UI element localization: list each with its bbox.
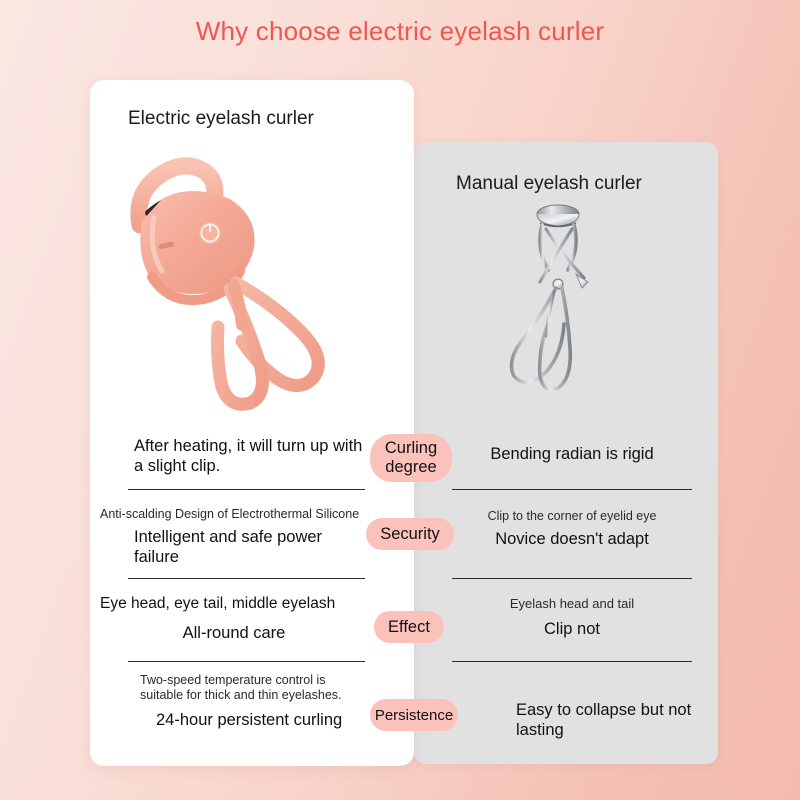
cell-electric-sub: Anti-scalding Design of Electrothermal S… [100, 507, 368, 522]
row-divider [128, 661, 365, 662]
cell-electric-main: Intelligent and safe power failure [100, 527, 368, 567]
criterion-pill-effect: Effect [374, 611, 444, 643]
table-row: After heating, it will turn up with a sl… [100, 436, 368, 476]
table-row: Anti-scalding Design of Electrothermal S… [100, 507, 368, 567]
row-divider [452, 489, 692, 490]
criterion-pill-curling-degree: Curling degree [370, 434, 452, 482]
row-divider [452, 578, 692, 579]
cell-manual-main: Novice doesn't adapt [444, 529, 700, 549]
cell-manual-main: Clip not [444, 619, 700, 639]
criterion-pill-persistence: Persistence [370, 699, 458, 731]
cell-manual-sub: Clip to the corner of eyelid eye [444, 509, 700, 524]
cell-electric-main: After heating, it will turn up with a sl… [134, 436, 368, 476]
comparison-table: After heating, it will turn up with a sl… [0, 0, 800, 800]
criterion-pill-security: Security [366, 518, 454, 550]
table-row: Easy to collapse but not lasting [516, 700, 706, 740]
cell-manual-main: Bending radian is rigid [444, 444, 700, 464]
table-row: Two-speed temperature control is suitabl… [140, 673, 370, 730]
table-row: Eyelash head and tail Clip not [444, 597, 700, 639]
cell-electric-main: 24-hour persistent curling [140, 710, 370, 730]
cell-electric-sub: Two-speed temperature control is suitabl… [140, 673, 370, 702]
row-divider [128, 578, 365, 579]
cell-manual-main: Easy to collapse but not lasting [516, 700, 706, 740]
table-row: Eye head, eye tail, middle eyelash All-r… [100, 594, 368, 643]
cell-electric-sub: Eye head, eye tail, middle eyelash [100, 594, 368, 614]
table-row: Bending radian is rigid [444, 444, 700, 464]
row-divider [452, 661, 692, 662]
cell-manual-sub: Eyelash head and tail [444, 597, 700, 612]
row-divider [128, 489, 365, 490]
cell-electric-main: All-round care [100, 623, 368, 643]
table-row: Clip to the corner of eyelid eye Novice … [444, 509, 700, 549]
